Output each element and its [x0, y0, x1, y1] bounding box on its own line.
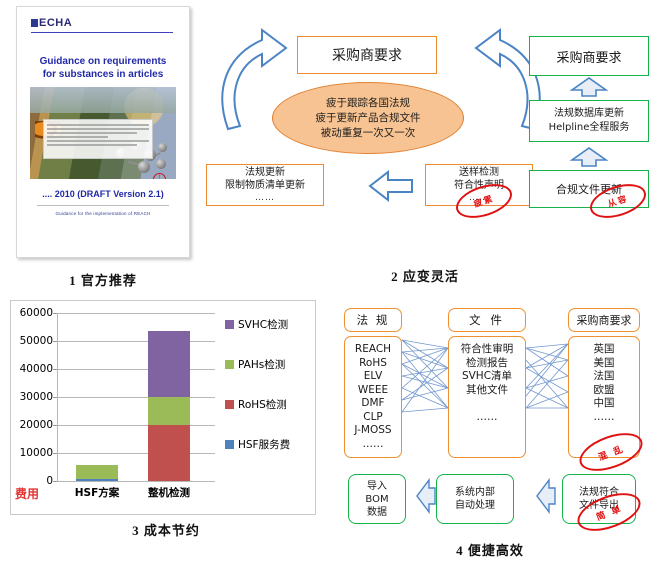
doc-title-line2: for substances in articles — [29, 68, 177, 81]
legend-item[interactable]: HSF服务费 — [225, 437, 290, 452]
doc-footer: Guidance for the implementation of REACH — [29, 211, 177, 216]
stamp-label: 混 乱 — [596, 441, 626, 462]
note-line — [47, 128, 149, 130]
documents-items: 符合性审明检测报告SVHC清单其他文件 …… — [449, 343, 525, 424]
panel-official-recommendation: ECHA Guidance on requirements for substa… — [8, 4, 198, 266]
header-label: 文 件 — [469, 312, 505, 328]
list-item — [449, 397, 525, 411]
panel3-caption: 3 成本节约 — [6, 520, 326, 539]
x-axis-label: HSF方案 — [75, 485, 120, 500]
list-item: 法国 — [569, 370, 639, 384]
list-item: CLP — [345, 411, 401, 425]
note-line — [47, 136, 108, 138]
box-line1: 法规数据库更新 — [554, 107, 624, 121]
legend-label: RoHS检测 — [238, 397, 287, 412]
legend-swatch — [225, 360, 234, 369]
red-circle-mark: ! — [153, 173, 166, 179]
header-regulations[interactable]: 法 规 — [344, 308, 402, 332]
cover-disclaimer-note — [43, 119, 153, 159]
header-rule — [31, 32, 173, 33]
box-buyer-requirement-left[interactable]: 采购商要求 — [297, 36, 437, 74]
y-tick-mark — [53, 481, 57, 482]
box-line2: Helpline全程服务 — [549, 121, 630, 135]
cost-chart: 0100002000030000400005000060000 HSF方案整机检… — [10, 300, 316, 515]
legend-item[interactable]: SVHC检测 — [225, 317, 288, 332]
table-row — [148, 313, 190, 481]
gridline — [57, 481, 215, 482]
list-item: 其他文件 — [449, 384, 525, 398]
bar-segment — [148, 397, 190, 425]
flow-step-auto-process[interactable]: 系统内部 自动处理 — [436, 474, 514, 524]
y-tick-label: 30000 — [20, 391, 53, 403]
molecule-atom — [138, 161, 150, 173]
table-row — [76, 313, 118, 481]
oval-pain-points: 疲于跟踪各国法规 疲于更新产品合规文件 被动重复一次又一次 — [272, 82, 464, 154]
y-tick-mark — [53, 453, 57, 454]
y-tick-label: 60000 — [20, 307, 53, 319]
list-regulations[interactable]: REACHRoHSELVWEEEDMFCLPJ-MOSS…… — [344, 336, 402, 458]
list-item: RoHS — [345, 357, 401, 371]
list-item: WEEE — [345, 384, 401, 398]
countries-items: 英国美国法国欧盟中国…… — [569, 343, 639, 424]
bar-segment — [148, 425, 190, 481]
step-line2: BOM — [365, 493, 388, 506]
doc-title-line1: Guidance on requirements — [29, 55, 177, 68]
echa-guidance-cover[interactable]: ECHA Guidance on requirements for substa… — [16, 6, 190, 258]
panel4-caption: 4 便捷高效 — [330, 540, 650, 559]
oval-line1: 疲于跟踪各国法规 — [326, 96, 410, 111]
list-documents[interactable]: 符合性审明检测报告SVHC清单其他文件 …… — [448, 336, 526, 458]
list-item: DMF — [345, 397, 401, 411]
list-item: 英国 — [569, 343, 639, 357]
legend-item[interactable]: RoHS检测 — [225, 397, 287, 412]
list-item: REACH — [345, 343, 401, 357]
y-tick-label: 20000 — [20, 419, 53, 431]
panel-flexible-response: 采购商要求 疲于跟踪各国法规 疲于更新产品合规文件 被动重复一次又一次 法规更新… — [200, 4, 650, 266]
panel-cost-saving: 0100002000030000400005000060000 HSF方案整机检… — [6, 300, 326, 545]
panel1-caption: 1 官方推荐 — [8, 270, 198, 289]
y-tick-mark — [53, 369, 57, 370]
list-item: 中国 — [569, 397, 639, 411]
y-tick-mark — [53, 425, 57, 426]
y-tick-label: 10000 — [20, 447, 53, 459]
box-buyer-requirement-right[interactable]: 采购商要求 — [529, 36, 649, 76]
list-item: J-MOSS — [345, 424, 401, 438]
footer-rule — [37, 205, 169, 206]
stamp-label: 简 单 — [594, 501, 624, 522]
y-tick-mark — [53, 313, 57, 314]
step-line3: 数据 — [367, 506, 387, 519]
step-line1: 导入 — [367, 480, 387, 493]
legend-item[interactable]: PAHs检测 — [225, 357, 285, 372]
doc-version: .... 2010 (DRAFT Version 2.1) — [29, 189, 177, 199]
step-line2: 自动处理 — [455, 499, 495, 512]
cover-photo-sky — [30, 87, 176, 113]
list-item: 检测报告 — [449, 357, 525, 371]
oval-line3: 被动重复一次又一次 — [321, 126, 416, 141]
box-line1: 送样检测 — [459, 166, 499, 179]
molecule-atom — [156, 159, 166, 169]
list-item: …… — [449, 411, 525, 425]
note-line — [47, 124, 149, 126]
regulations-items: REACHRoHSELVWEEEDMFCLPJ-MOSS…… — [345, 343, 401, 451]
stamp-label: 疲累 — [472, 192, 496, 210]
note-line — [47, 132, 137, 134]
box-label: 采购商要求 — [556, 47, 621, 66]
list-item: 符合性审明 — [449, 343, 525, 357]
legend-swatch — [225, 440, 234, 449]
legend-label: HSF服务费 — [238, 437, 290, 452]
panel-efficient-convenient: 法 规 文 件 采购商要求 REACHRoHSELVWEEEDMFCLPJ-MO… — [330, 300, 650, 562]
note-line — [47, 140, 149, 142]
box-line1: 法规更新 — [245, 166, 285, 179]
legend-swatch — [225, 320, 234, 329]
box-dots: …… — [255, 192, 275, 205]
y-tick-label: 0 — [46, 475, 53, 487]
list-item: 欧盟 — [569, 384, 639, 398]
list-item: …… — [345, 438, 401, 452]
box-regulation-database-update[interactable]: 法规数据库更新 Helpline全程服务 — [529, 100, 649, 142]
y-tick-label: 40000 — [20, 363, 53, 375]
echa-logo: ECHA — [31, 17, 72, 29]
echa-logo-text: ECHA — [39, 17, 72, 29]
x-axis-label: 整机检测 — [148, 485, 190, 500]
note-line — [47, 144, 137, 146]
header-buyer-requirements[interactable]: 采购商要求 — [568, 308, 640, 332]
header-label: 采购商要求 — [577, 312, 632, 328]
oval-line2: 疲于更新产品合规文件 — [316, 111, 421, 126]
header-documents[interactable]: 文 件 — [448, 308, 526, 332]
box-label: 采购商要求 — [332, 45, 402, 65]
legend-swatch — [225, 400, 234, 409]
list-item: ELV — [345, 370, 401, 384]
list-item: 美国 — [569, 357, 639, 371]
bar-segment — [76, 465, 118, 479]
cost-axis-label: 费用 — [15, 485, 39, 502]
flow-step-import-bom[interactable]: 导入 BOM 数据 — [348, 474, 406, 524]
header-label: 法 规 — [357, 312, 390, 328]
stamp-label: 从容 — [606, 192, 630, 210]
y-tick-label: 50000 — [20, 335, 53, 347]
box-regulation-update[interactable]: 法规更新 限制物质清单更新 …… — [206, 164, 324, 206]
y-tick-mark — [53, 397, 57, 398]
bar-segment — [148, 331, 190, 397]
molecule-atom — [158, 143, 167, 152]
y-tick-mark — [53, 341, 57, 342]
legend-label: SVHC检测 — [238, 317, 288, 332]
echa-logo-mark — [31, 19, 38, 27]
list-item: SVHC清单 — [449, 370, 525, 384]
box-line2: 限制物质清单更新 — [225, 179, 305, 192]
step-line1: 系统内部 — [455, 486, 495, 499]
doc-title: Guidance on requirements for substances … — [29, 55, 177, 81]
panel2-caption: 2 应变灵活 — [200, 266, 650, 285]
list-item: …… — [569, 411, 639, 425]
bar-segment — [76, 479, 118, 481]
legend-label: PAHs检测 — [238, 357, 285, 372]
chart-plot-area: 0100002000030000400005000060000 HSF方案整机检… — [57, 313, 215, 481]
